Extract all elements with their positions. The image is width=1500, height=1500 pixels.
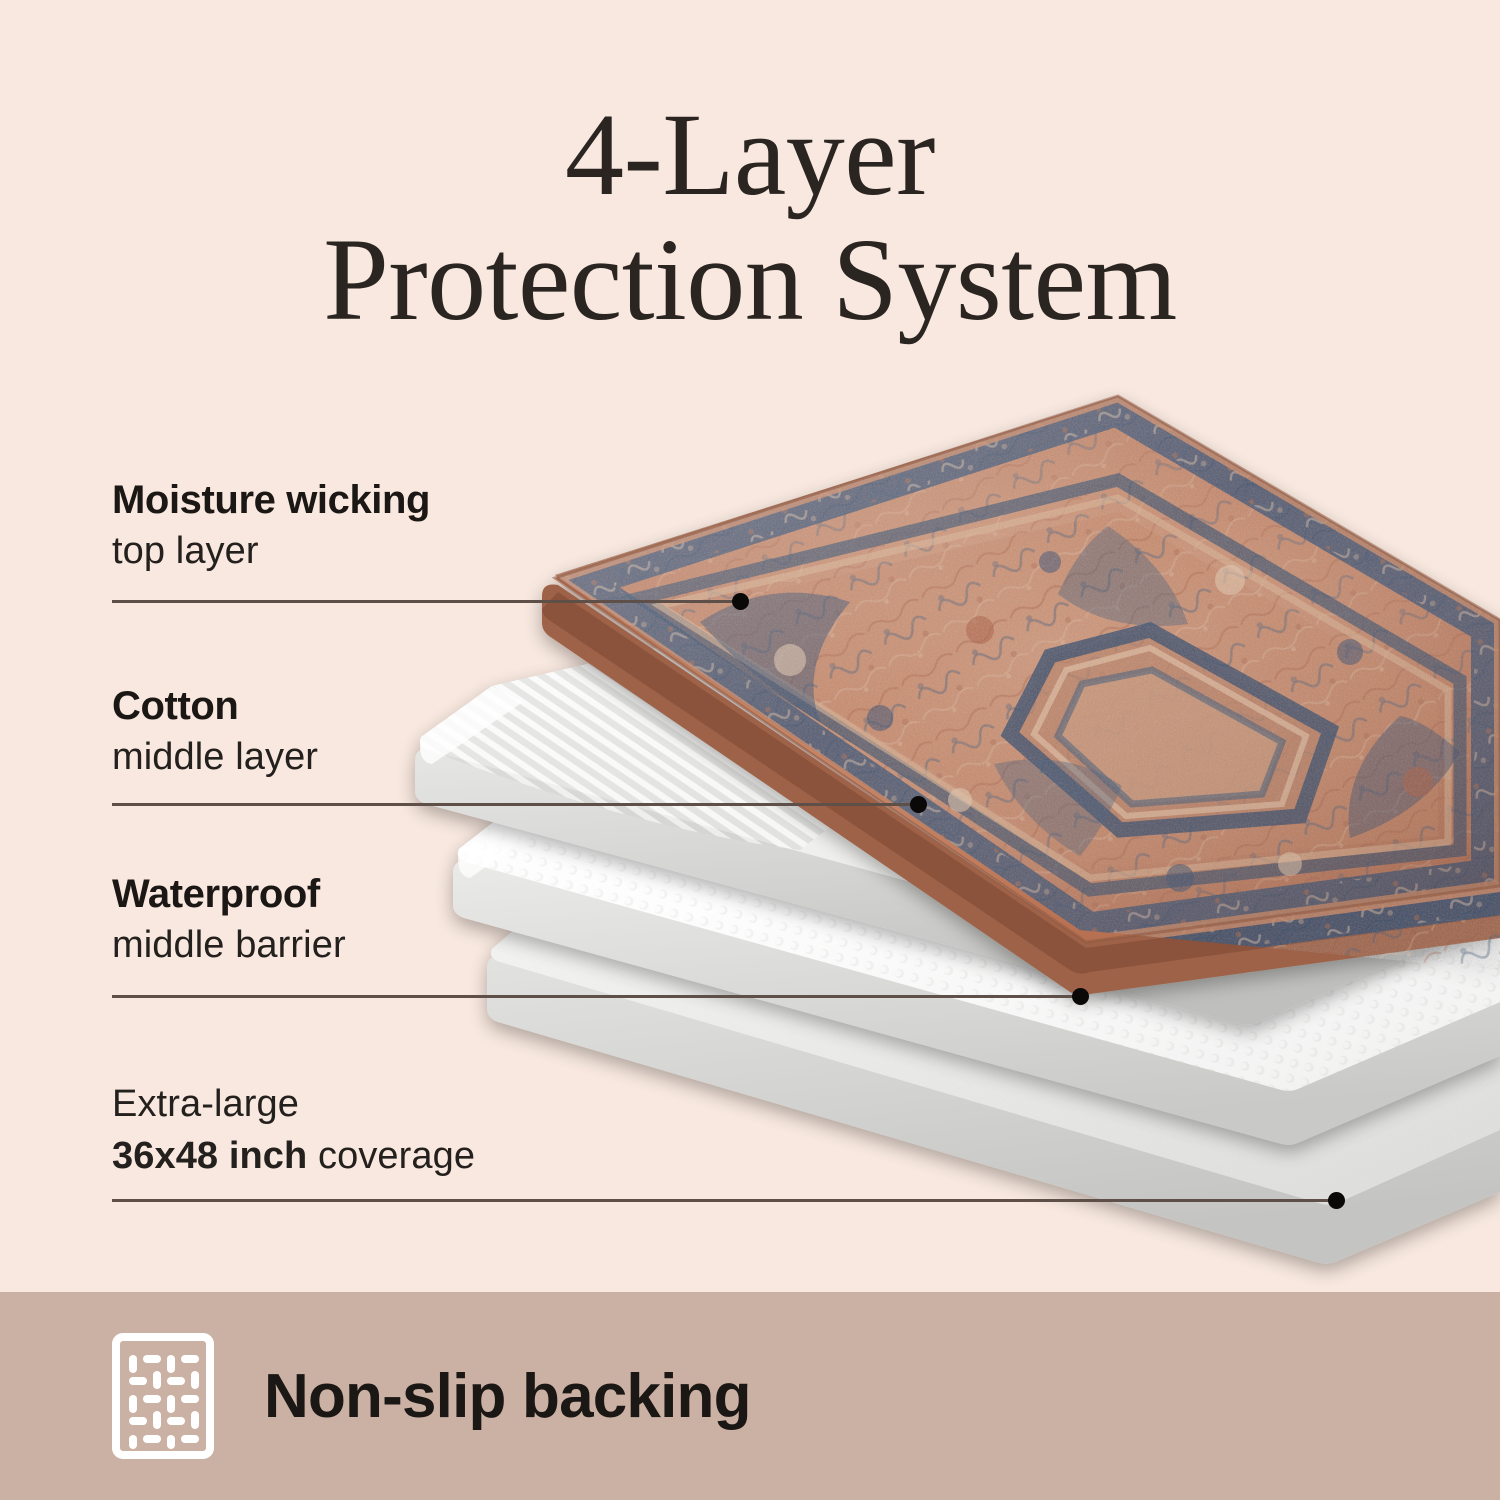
leader-line-moisture-wicking [112, 600, 740, 603]
coverage-dimensions: 36x48 inch [112, 1135, 307, 1177]
leader-dot [910, 796, 927, 813]
non-slip-grip-icon [112, 1333, 214, 1459]
leader-line-extra-large [112, 1199, 1336, 1202]
coverage-suffix: coverage [307, 1135, 475, 1177]
leader-line-cotton [112, 803, 918, 806]
feature-subtext: middle barrier [112, 923, 752, 969]
page-title: 4-Layer Protection System [0, 92, 1500, 342]
feature-heading: Waterproof [112, 872, 752, 917]
leader-dot [1328, 1192, 1345, 1209]
leader-dot [732, 593, 749, 610]
feature-subtext: middle layer [112, 735, 752, 781]
feature-heading: Cotton [112, 684, 752, 729]
leader-dot [1072, 988, 1089, 1005]
feature-subtext: top layer [112, 529, 752, 575]
leader-line-waterproof [112, 995, 1080, 998]
non-slip-backing-banner: Non-slip backing [0, 1292, 1500, 1500]
coverage-line-2: 36x48 inch coverage [112, 1134, 752, 1180]
feature-waterproof: Waterproof middle barrier [112, 872, 752, 968]
feature-heading: Moisture wicking [112, 478, 752, 523]
non-slip-backing-label: Non-slip backing [264, 1361, 751, 1432]
page-title-line-2: Protection System [0, 217, 1500, 342]
page-title-line-1: 4-Layer [0, 92, 1500, 217]
feature-moisture-wicking: Moisture wicking top layer [112, 478, 752, 574]
feature-extra-large-coverage: Extra-large 36x48 inch coverage [112, 1082, 752, 1179]
coverage-line-1: Extra-large [112, 1082, 752, 1128]
infographic-page: 4-Layer Protection System [0, 0, 1500, 1500]
feature-cotton: Cotton middle layer [112, 684, 752, 780]
